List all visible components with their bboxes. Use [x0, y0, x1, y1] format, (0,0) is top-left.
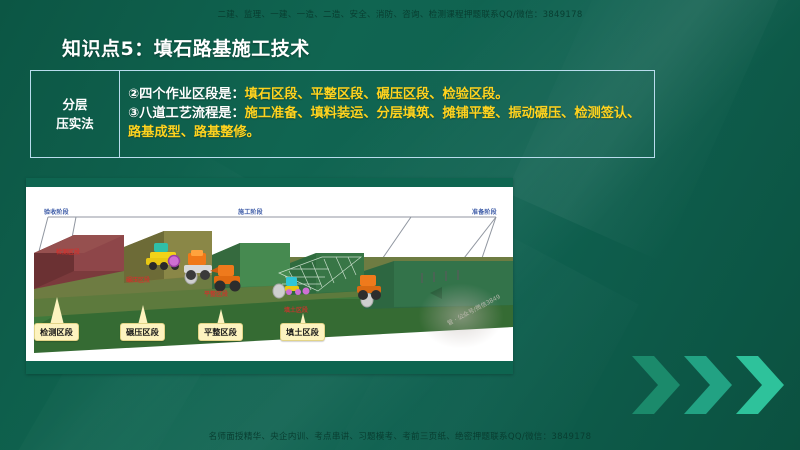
vehicle-small-machine-icon: [284, 273, 314, 297]
row-label-line-1: 分层: [62, 95, 87, 114]
page-title: 知识点5：填石路基施工技术: [62, 34, 310, 61]
red-tag-detection: 检测区段: [56, 247, 80, 256]
promo-banner-bottom: 名师面授精华、央企内训、考点串讲、习题模考、考前三页纸、绝密押题联系QQ/微信：…: [0, 430, 800, 442]
callout-compaction-section: 碾压区段: [120, 323, 165, 341]
callout-pointer: [50, 297, 64, 325]
content-line-prefix: ③八道工艺流程是：: [128, 106, 245, 121]
figure-band-top: [26, 178, 513, 187]
red-tag-compaction: 碾压区段: [126, 275, 150, 284]
red-tag-leveling: 平整区段: [204, 289, 228, 298]
vehicle-truck-icon: [354, 271, 386, 303]
vehicle-grader-icon: [144, 241, 186, 275]
figure-roadbed-diagram: 验收阶段 施工阶段 准备阶段: [26, 178, 513, 374]
chevron-decoration: [632, 354, 800, 416]
row-label-line-2: 压实法: [56, 114, 94, 133]
callout-detection-section: 检测区段: [34, 323, 79, 341]
callout-filling-section: 填土区段: [280, 323, 325, 341]
chevron-arrows-icon: [632, 354, 800, 416]
content-line: ②四个作业区段是：填石区段、平整区段、碾压区段、检验区段。: [128, 86, 646, 105]
slide-canvas: 二建、监理、一建、一造、二造、安全、消防、咨询、检测课程押题联系QQ/微信：38…: [0, 0, 800, 450]
table-row-label: 分层 压实法: [31, 71, 120, 157]
figure-band-bottom: [26, 361, 513, 374]
content-table: 分层 压实法 ②四个作业区段是：填石区段、平整区段、碾压区段、检验区段。 ③八道…: [30, 70, 655, 158]
figure-stage: 验收阶段 施工阶段 准备阶段: [26, 187, 513, 361]
table-row-body: ②四个作业区段是：填石区段、平整区段、碾压区段、检验区段。 ③八道工艺流程是：施…: [120, 71, 654, 157]
promo-banner-top: 二建、监理、一建、一造、二造、安全、消防、咨询、检测课程押题联系QQ/微信：38…: [0, 8, 800, 20]
content-line-prefix: ②四个作业区段是：: [128, 87, 245, 102]
content-line: ③八道工艺流程是：施工准备、填料装运、分层填筑、摊铺平整、振动碾压、检测签认、路…: [128, 105, 646, 142]
callout-leveling-section: 平整区段: [198, 323, 243, 341]
content-line-highlight: 填石区段、平整区段、碾压区段、检验区段。: [245, 87, 509, 102]
